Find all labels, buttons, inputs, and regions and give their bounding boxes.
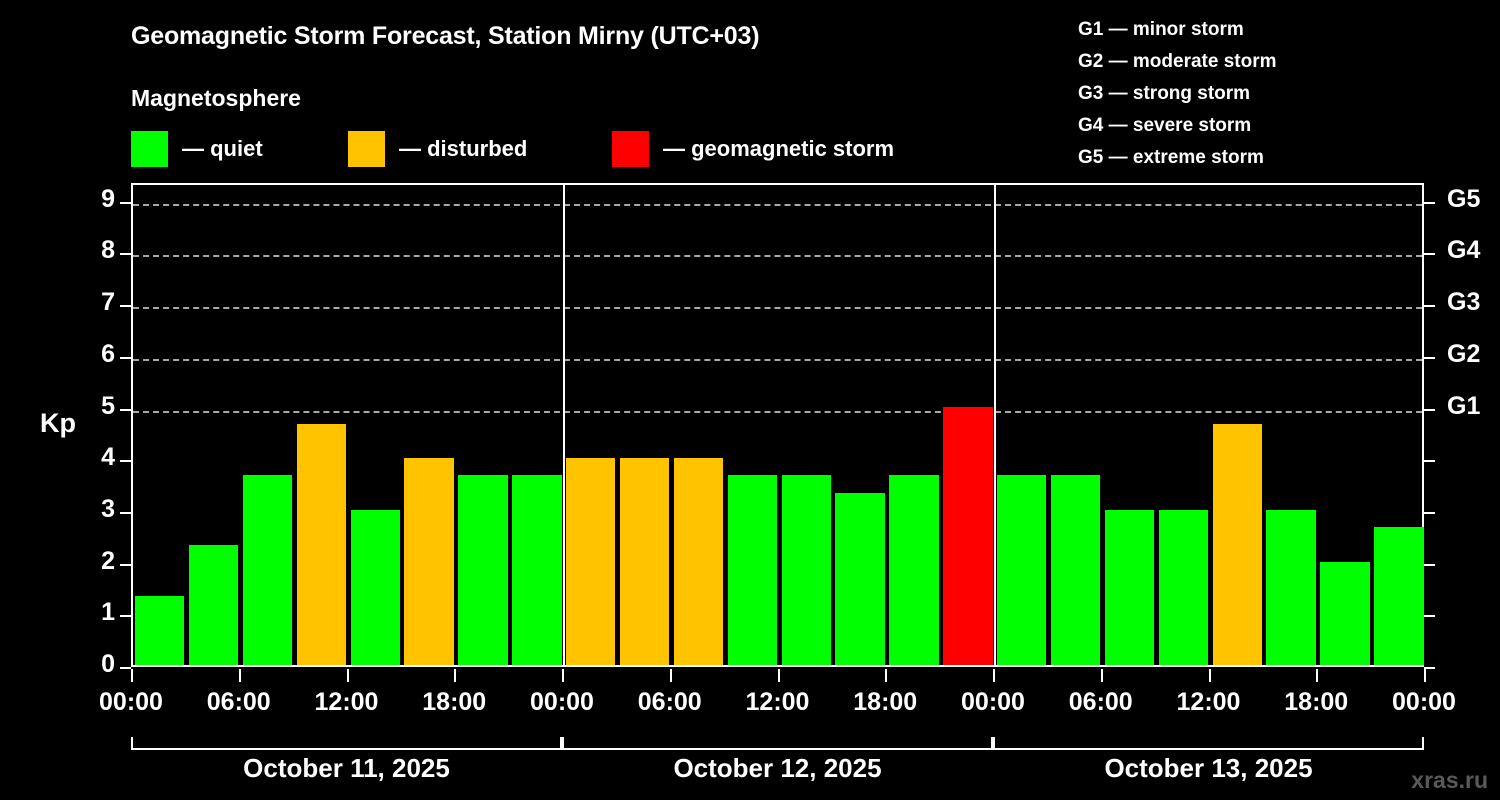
y-tick-mark-1 <box>120 615 131 617</box>
y-tick-mark-8 <box>120 253 131 255</box>
bar-day2-21:00-24:00 <box>943 407 992 666</box>
x-tick-label-12: 00:00 <box>1364 688 1484 717</box>
bars-layer <box>133 185 1422 665</box>
g-legend-row-g3: G3 — strong storm <box>1078 78 1277 110</box>
y-axis-labels: 0123456789 <box>53 0 115 800</box>
x-tick-label-5: 06:00 <box>610 688 730 717</box>
legend-swatch-quiet-icon <box>131 131 168 167</box>
legend-entry-storm: — geomagnetic storm <box>612 131 894 167</box>
y-axis-ticks <box>120 0 131 800</box>
g-tick-label-g1: G1 <box>1447 392 1500 421</box>
x-tick-mark-2 <box>347 669 349 682</box>
x-tick-label-2: 12:00 <box>287 688 407 717</box>
x-tick-mark-3 <box>454 669 456 682</box>
x-tick-mark-6 <box>778 669 780 682</box>
y-tick-label-2: 2 <box>75 547 115 576</box>
y-tick-label-3: 3 <box>75 495 115 524</box>
g-legend-row-g2: G2 — moderate storm <box>1078 46 1277 78</box>
day-bracket-1 <box>131 737 562 750</box>
bar-day1-12:00-15:00 <box>351 510 400 665</box>
g-scale-legend: G1 — minor stormG2 — moderate stormG3 — … <box>1078 14 1277 174</box>
x-tick-label-1: 06:00 <box>179 688 299 717</box>
x-tick-mark-4 <box>562 669 564 682</box>
y-tick-mark-2 <box>120 564 131 566</box>
bar-day1-00:00-03:00 <box>135 596 184 665</box>
g-tick-mark-g3 <box>1424 305 1435 307</box>
legend-entry-disturbed: — disturbed <box>348 131 527 167</box>
y-tick-label-5: 5 <box>75 392 115 421</box>
geomagnetic-forecast-chart: Geomagnetic Storm Forecast, Station Mirn… <box>0 0 1500 800</box>
x-tick-label-7: 18:00 <box>825 688 945 717</box>
x-tick-label-0: 00:00 <box>71 688 191 717</box>
bar-day1-15:00-18:00 <box>404 458 453 665</box>
y-tick-label-0: 0 <box>75 650 115 679</box>
y-tick-label-6: 6 <box>75 340 115 369</box>
g-tick-label-g5: G5 <box>1447 185 1500 214</box>
g-legend-row-g1: G1 — minor storm <box>1078 14 1277 46</box>
bar-day1-09:00-12:00 <box>297 424 346 665</box>
g-tick-label-g2: G2 <box>1447 340 1500 369</box>
day-bracket-2 <box>562 737 993 750</box>
g-axis-minor-tick-1 <box>1424 615 1435 617</box>
bar-day2-03:00-06:00 <box>620 458 669 665</box>
x-tick-mark-10 <box>1209 669 1211 682</box>
x-tick-mark-9 <box>1101 669 1103 682</box>
x-tick-label-3: 18:00 <box>394 688 514 717</box>
legend-swatch-disturbed-icon <box>348 131 385 167</box>
g-legend-row-g4: G4 — severe storm <box>1078 110 1277 142</box>
g-tick-mark-g1 <box>1424 409 1435 411</box>
y-tick-label-4: 4 <box>75 443 115 472</box>
bar-day3-15:00-18:00 <box>1266 510 1315 665</box>
g-axis-minor-tick-2 <box>1424 564 1435 566</box>
bar-day2-12:00-15:00 <box>782 475 831 665</box>
day-label-3: October 13, 2025 <box>993 753 1424 784</box>
x-tick-label-8: 00:00 <box>933 688 1053 717</box>
g-tick-mark-g5 <box>1424 202 1435 204</box>
section-label: Magnetosphere <box>131 85 301 112</box>
g-legend-row-g5: G5 — extreme storm <box>1078 142 1277 174</box>
x-tick-label-6: 12:00 <box>718 688 838 717</box>
bar-day3-03:00-06:00 <box>1051 475 1100 665</box>
g-axis-minor-tick-3 <box>1424 512 1435 514</box>
y-tick-mark-7 <box>120 305 131 307</box>
g-tick-label-g3: G3 <box>1447 288 1500 317</box>
y-tick-mark-6 <box>120 357 131 359</box>
bar-day1-06:00-09:00 <box>243 475 292 665</box>
g-axis-minor-tick-4 <box>1424 460 1435 462</box>
y-tick-mark-5 <box>120 409 131 411</box>
y-tick-mark-0 <box>120 667 131 669</box>
legend-label-quiet: — quiet <box>182 136 263 162</box>
bar-day1-03:00-06:00 <box>189 545 238 665</box>
bar-day2-00:00-03:00 <box>566 458 615 665</box>
plot-area <box>131 183 1424 667</box>
x-tick-label-11: 18:00 <box>1256 688 1376 717</box>
legend-swatch-storm-icon <box>612 131 649 167</box>
y-tick-mark-4 <box>120 460 131 462</box>
x-tick-mark-1 <box>239 669 241 682</box>
x-tick-label-10: 12:00 <box>1149 688 1269 717</box>
g-tick-mark-g4 <box>1424 253 1435 255</box>
bar-day3-12:00-15:00 <box>1213 424 1262 665</box>
bar-day2-09:00-12:00 <box>728 475 777 665</box>
x-tick-label-9: 06:00 <box>1041 688 1161 717</box>
legend-label-disturbed: — disturbed <box>399 136 527 162</box>
day-label-2: October 12, 2025 <box>562 753 993 784</box>
x-tick-mark-7 <box>885 669 887 682</box>
y-tick-label-1: 1 <box>75 598 115 627</box>
bar-day3-21:00-24:00 <box>1374 527 1423 665</box>
x-tick-mark-5 <box>670 669 672 682</box>
bar-day1-21:00-24:00 <box>512 475 561 665</box>
bar-day2-15:00-18:00 <box>835 493 884 665</box>
y-tick-label-9: 9 <box>75 185 115 214</box>
x-tick-mark-11 <box>1316 669 1318 682</box>
day-bracket-3 <box>993 737 1424 750</box>
day-label-1: October 11, 2025 <box>131 753 562 784</box>
x-tick-label-4: 00:00 <box>502 688 622 717</box>
y-tick-mark-9 <box>120 202 131 204</box>
legend-label-storm: — geomagnetic storm <box>663 136 894 162</box>
x-tick-mark-12 <box>1424 669 1426 682</box>
g-tick-mark-g2 <box>1424 357 1435 359</box>
x-tick-mark-0 <box>131 669 133 682</box>
bar-day1-18:00-21:00 <box>458 475 507 665</box>
x-tick-mark-8 <box>993 669 995 682</box>
page-title: Geomagnetic Storm Forecast, Station Mirn… <box>131 22 759 51</box>
watermark: xras.ru <box>1411 767 1488 794</box>
bar-day3-00:00-03:00 <box>997 475 1046 665</box>
g-tick-label-g4: G4 <box>1447 236 1500 265</box>
bar-day2-06:00-09:00 <box>674 458 723 665</box>
bar-day3-06:00-09:00 <box>1105 510 1154 665</box>
bar-day3-09:00-12:00 <box>1159 510 1208 665</box>
y-tick-mark-3 <box>120 512 131 514</box>
y-tick-label-7: 7 <box>75 288 115 317</box>
bar-day2-18:00-21:00 <box>889 475 938 665</box>
y-tick-label-8: 8 <box>75 236 115 265</box>
bar-day3-18:00-21:00 <box>1320 562 1369 665</box>
legend-entry-quiet: — quiet <box>131 131 263 167</box>
